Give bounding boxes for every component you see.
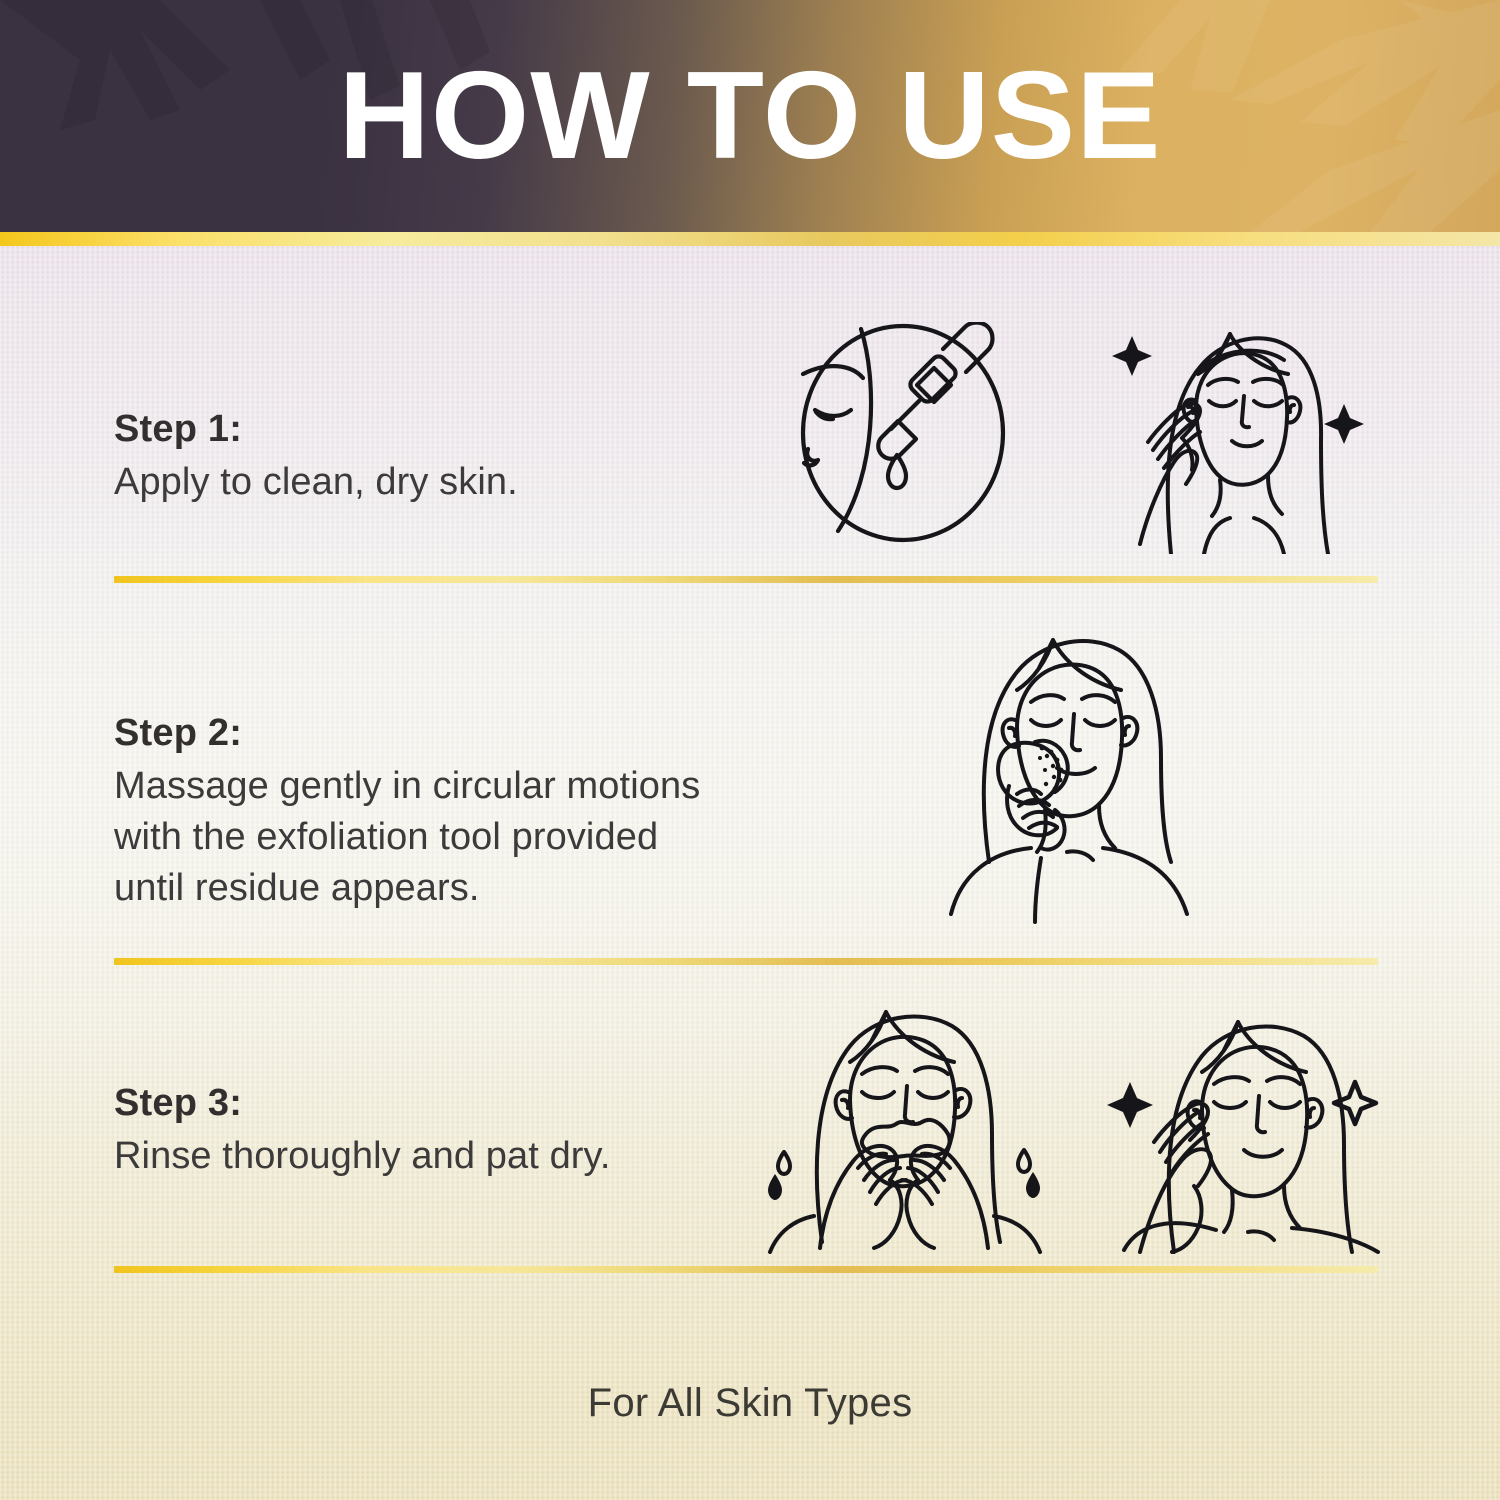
- step-3-label: Step 3:: [114, 1082, 754, 1125]
- step-2-description-line-1: Massage gently in circular motions: [114, 761, 814, 812]
- woman-patting-face-dry-icon: [1106, 1002, 1386, 1254]
- step-1-description: Apply to clean, dry skin.: [114, 457, 734, 508]
- how-to-use-poster: HOW TO USE Step 1: Apply to clean, dry s…: [0, 0, 1500, 1500]
- header-gold-rule: [0, 232, 1500, 246]
- step-2-description-line-2: with the exfoliation tool provided: [114, 812, 814, 863]
- page-title: HOW TO USE: [0, 54, 1500, 178]
- skin-type-note: For All Skin Types: [0, 1381, 1500, 1426]
- woman-rinsing-face-icon: [762, 994, 1046, 1256]
- divider-3: [114, 1266, 1378, 1273]
- step-3-text: Step 3: Rinse thoroughly and pat dry.: [114, 1082, 754, 1182]
- woman-using-exfoliation-tool-icon: [935, 624, 1217, 926]
- woman-applying-serum-icon: [1108, 312, 1374, 554]
- divider-1: [114, 576, 1378, 583]
- step-2-description-line-3: until residue appears.: [114, 863, 814, 914]
- face-with-dropper-icon: [785, 322, 1035, 544]
- step-2-text: Step 2: Massage gently in circular motio…: [114, 712, 814, 914]
- step-1-label: Step 1:: [114, 408, 734, 451]
- divider-2: [114, 958, 1378, 965]
- header-banner: HOW TO USE: [0, 0, 1500, 232]
- step-3-description: Rinse thoroughly and pat dry.: [114, 1131, 754, 1182]
- step-2-label: Step 2:: [114, 712, 814, 755]
- step-1-text: Step 1: Apply to clean, dry skin.: [114, 408, 734, 508]
